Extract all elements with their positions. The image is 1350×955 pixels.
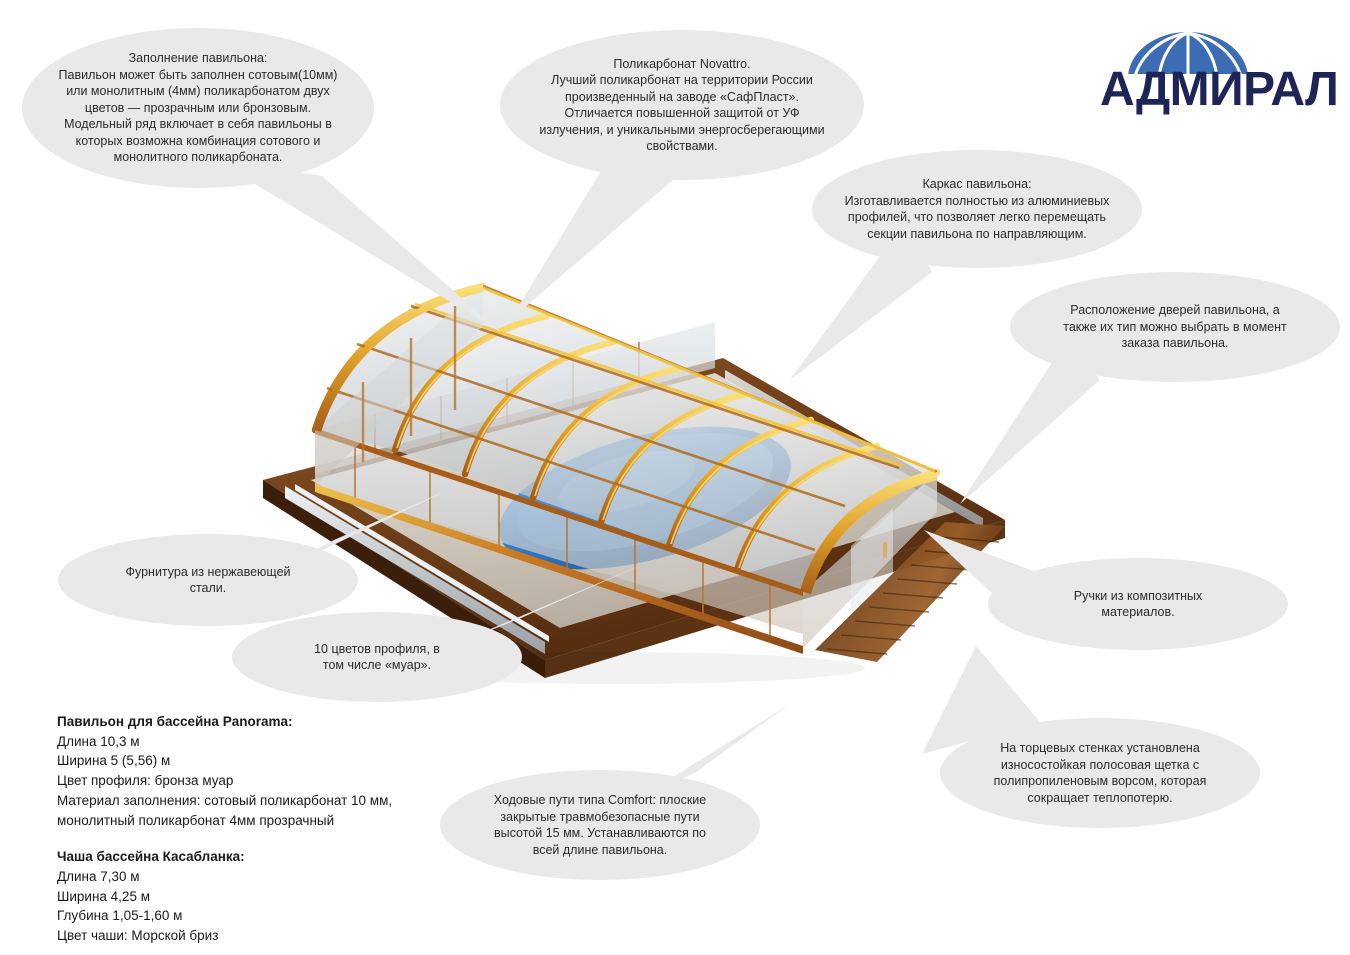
- bubble-body: Каркас павильона: Изготавливается полнос…: [812, 150, 1142, 268]
- infographic-page: Заполнение павильона: Павильон может быт…: [0, 0, 1350, 955]
- callout-text: Поликарбонат Novattro. Лучший поликарбон…: [539, 56, 824, 155]
- callout-profile-colors: 10 цветов профиля, в том числе «муар».: [232, 612, 522, 702]
- brand-name: АДМИРАЛ: [1100, 66, 1315, 114]
- callout-pavilion-frame: Каркас павильона: Изготавливается полнос…: [812, 150, 1142, 268]
- bubble-body: 10 цветов профиля, в том числе «муар».: [232, 612, 522, 702]
- callout-pavilion-filling: Заполнение павильона: Павильон может быт…: [22, 28, 374, 188]
- spec-title-pavilion: Павильон для бассейна Panorama:: [57, 712, 487, 732]
- bubble-body: Расположение дверей павильона, а также и…: [1010, 272, 1340, 382]
- callout-text: На торцевых стенках установлена износост…: [994, 740, 1207, 806]
- door-handle: [883, 542, 887, 558]
- bubble-body: На торцевых стенках установлена износост…: [940, 718, 1260, 828]
- product-specifications: Павильон для бассейна Panorama: Длина 10…: [57, 712, 487, 946]
- spec-lines-pavilion: Длина 10,3 м Ширина 5 (5,56) м Цвет проф…: [57, 732, 487, 831]
- callout-text: Ходовые пути типа Comfort: плоские закры…: [494, 792, 706, 858]
- spec-title-bowl: Чаша бассейна Касабланка:: [57, 847, 487, 867]
- callout-text: 10 цветов профиля, в том числе «муар».: [314, 641, 440, 674]
- callout-text: Фурнитура из нержавеющей стали.: [125, 564, 290, 597]
- callout-polycarbonate-novattro: Поликарбонат Novattro. Лучший поликарбон…: [500, 30, 864, 180]
- callout-text: Расположение дверей павильона, а также и…: [1063, 302, 1287, 352]
- callout-comfort-walkways: Ходовые пути типа Comfort: плоские закры…: [440, 770, 760, 880]
- spec-lines-bowl: Длина 7,30 м Ширина 4,25 м Глубина 1,05-…: [57, 867, 487, 946]
- bubble-body: Ходовые пути типа Comfort: плоские закры…: [440, 770, 760, 880]
- callout-composite-handles: Ручки из композитных материалов.: [988, 558, 1288, 650]
- callout-text: Каркас павильона: Изготавливается полнос…: [845, 176, 1110, 242]
- callout-door-placement: Расположение дверей павильона, а также и…: [1010, 272, 1340, 382]
- bubble-body: Ручки из композитных материалов.: [988, 558, 1288, 650]
- spec-group-bowl: Чаша бассейна Касабланка: Длина 7,30 м Ш…: [57, 847, 487, 946]
- spec-divider: [57, 830, 487, 847]
- bubble-body: Заполнение павильона: Павильон может быт…: [22, 28, 374, 188]
- callout-text: Ручки из композитных материалов.: [1074, 588, 1203, 621]
- callout-end-wall-brush: На торцевых стенках установлена износост…: [940, 718, 1260, 828]
- bubble-body: Поликарбонат Novattro. Лучший поликарбон…: [500, 30, 864, 180]
- spec-group-pavilion: Павильон для бассейна Panorama: Длина 10…: [57, 712, 487, 830]
- brand-logo: АДМИРАЛ: [1100, 32, 1315, 124]
- callout-text: Заполнение павильона: Павильон может быт…: [59, 50, 338, 166]
